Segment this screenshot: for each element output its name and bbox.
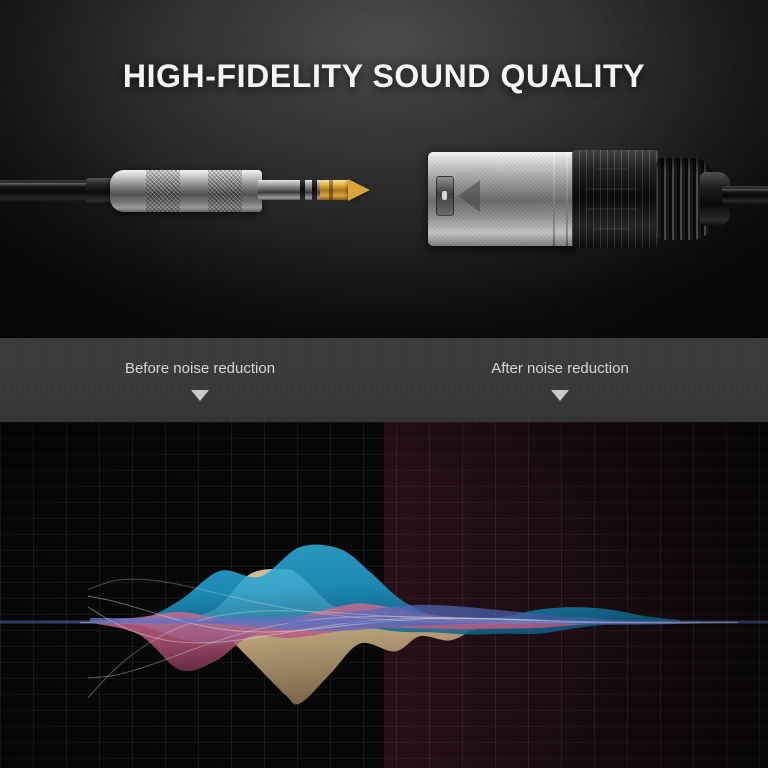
trs-insulator-ring-1	[300, 180, 305, 200]
page-title: HIGH-FIDELITY SOUND QUALITY	[0, 58, 768, 95]
xlr-seam-2	[566, 152, 568, 246]
xlr-latch-button	[436, 176, 454, 216]
label-band-texture	[0, 338, 768, 422]
waveform-graphic	[0, 422, 768, 768]
down-triangle-icon-before	[191, 390, 209, 401]
hero-section: HIGH-FIDELITY SOUND QUALITY	[0, 0, 768, 338]
comparison-label-band	[0, 338, 768, 422]
right-cable-highlight	[722, 189, 768, 192]
xlr-latch-triangle-icon	[458, 180, 480, 212]
label-before-noise-reduction: Before noise reduction	[125, 360, 275, 377]
xlr-seam-1	[553, 152, 555, 246]
product-marketing-image: HIGH-FIDELITY SOUND QUALITY Before noise…	[0, 0, 768, 768]
label-after-noise-reduction: After noise reduction	[491, 360, 629, 377]
down-triangle-icon-after	[551, 390, 569, 401]
trs-gold-tip-cone	[348, 179, 370, 201]
waveform-panel	[0, 422, 768, 768]
trs-insulator-ring-2	[312, 180, 317, 200]
trs-barrel-shading	[110, 170, 262, 212]
xlr-grip-slots	[586, 168, 638, 230]
